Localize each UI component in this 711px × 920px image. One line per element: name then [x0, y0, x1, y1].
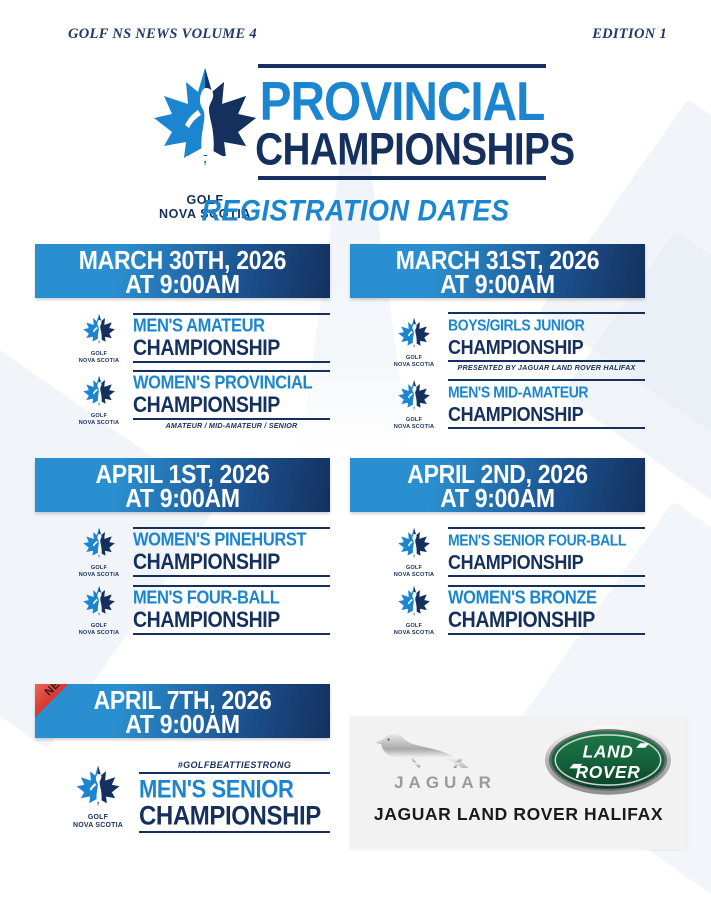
- land-rover-logo: LAND ROVER: [543, 724, 673, 796]
- date-block: MARCH 30TH, 2026 AT 9:00AM GOLF NOVA SCO…: [35, 244, 330, 436]
- event-name: WOMEN'S PINEHURST: [133, 531, 330, 550]
- event-championship-word: CHAMPIONSHIP: [139, 802, 330, 830]
- date-line-2: AT 9:00AM: [35, 483, 330, 512]
- event-rule-top: [448, 312, 645, 314]
- event-title-block: MEN'S MID-AMATEUR CHAMPIONSHIP: [448, 379, 645, 429]
- event-championship-word: CHAMPIONSHIP: [448, 609, 645, 631]
- event-logo-text-nova-scotia: NOVA SCOTIA: [73, 630, 125, 637]
- event-hashtag: #GOLFBEATTIESTRONG: [139, 760, 330, 770]
- date-line-2: AT 9:00AM: [350, 269, 645, 298]
- sponsor-panel: JAGUAR: [350, 716, 687, 849]
- event-rule-top: [139, 772, 330, 774]
- event-championship-word: CHAMPIONSHIP: [448, 403, 645, 425]
- event-rule-bottom: [448, 427, 645, 429]
- event-logo-text-golf: GOLF: [73, 351, 125, 358]
- event-list: GOLF NOVA SCOTIA MEN'S SENIOR FOUR-BALL …: [350, 512, 645, 636]
- date-bar: MARCH 30TH, 2026 AT 9:00AM: [35, 244, 330, 298]
- event-rule-bottom: [448, 633, 645, 635]
- title-line-provincial: PROVINCIAL: [252, 74, 552, 128]
- event-rule-top: [133, 313, 330, 315]
- svg-text:ROVER: ROVER: [576, 762, 641, 782]
- newsletter-page: GOLF NS NEWS VOLUME 4 EDITION 1 GOLF NOV…: [0, 0, 711, 920]
- sponsor-logos: JAGUAR: [350, 716, 687, 802]
- event-logo-text-nova-scotia: NOVA SCOTIA: [388, 362, 440, 369]
- maple-leaf-golfer-icon: [394, 378, 434, 412]
- event-rule-bottom: [448, 360, 645, 362]
- maple-leaf-golfer-icon: [394, 526, 434, 560]
- title-line-championships: CHAMPIONSHIPS: [255, 126, 549, 174]
- event-logo-text-golf: GOLF: [388, 355, 440, 362]
- jaguar-wordmark: JAGUAR: [370, 773, 520, 793]
- event-logo-text-nova-scotia: NOVA SCOTIA: [73, 358, 125, 365]
- event-logo-text-golf: GOLF: [73, 565, 125, 572]
- event-logo: GOLF NOVA SCOTIA: [73, 374, 125, 426]
- event-presented-by: PRESENTED BY JAGUAR LAND ROVER HALIFAX: [448, 363, 645, 372]
- event-logo-text-golf: GOLF: [388, 565, 440, 572]
- event-name: MEN'S SENIOR: [139, 776, 330, 802]
- event-lockup[interactable]: GOLF NOVA SCOTIA BOYS/GIRLS JUNIOR CHAMP…: [350, 312, 645, 372]
- event-rule-bottom: [133, 418, 330, 420]
- maple-leaf-golfer-icon: [79, 374, 119, 408]
- event-rule-top: [133, 527, 330, 529]
- event-rule-top: [133, 370, 330, 372]
- event-subtitle: AMATEUR / MID-AMATEUR / SENIOR: [133, 421, 330, 430]
- event-rule-top: [448, 379, 645, 381]
- event-title-block: WOMEN'S PINEHURST CHAMPIONSHIP: [133, 527, 330, 577]
- event-logo: GOLF NOVA SCOTIA: [65, 763, 131, 830]
- event-logo-text-nova-scotia: NOVA SCOTIA: [388, 572, 440, 579]
- event-championship-word: CHAMPIONSHIP: [133, 337, 330, 359]
- date-block: APRIL 1ST, 2026 AT 9:00AM GOLF NOVA SCOT…: [35, 458, 330, 642]
- maple-leaf-golfer-icon: [79, 312, 119, 346]
- event-lockup[interactable]: GOLF NOVA SCOTIA MEN'S FOUR-BALL CHAMPIO…: [35, 584, 330, 636]
- maple-leaf-golfer-icon: [71, 763, 125, 809]
- maple-leaf-golfer-icon: [394, 584, 434, 618]
- event-championship-word: CHAMPIONSHIP: [133, 551, 330, 573]
- event-list: GOLF NOVA SCOTIA #GOLFBEATTIESTRONG MEN'…: [35, 738, 330, 833]
- event-title-block: BOYS/GIRLS JUNIOR CHAMPIONSHIP PRESENTED…: [448, 312, 645, 372]
- maple-leaf-golfer-icon: [79, 584, 119, 618]
- event-championship-word: CHAMPIONSHIP: [448, 336, 645, 358]
- event-lockup[interactable]: GOLF NOVA SCOTIA MEN'S MID-AMATEUR CHAMP…: [350, 378, 645, 430]
- event-lockup[interactable]: GOLF NOVA SCOTIA WOMEN'S PINEHURST CHAMP…: [35, 526, 330, 578]
- event-name: MEN'S SENIOR FOUR-BALL: [448, 531, 645, 550]
- date-bar: APRIL 2ND, 2026 AT 9:00AM: [350, 458, 645, 512]
- event-rule-bottom: [139, 831, 330, 833]
- event-name: WOMEN'S PROVINCIAL: [133, 374, 330, 393]
- event-title-block: MEN'S FOUR-BALL CHAMPIONSHIP: [133, 585, 330, 635]
- event-lockup[interactable]: GOLF NOVA SCOTIA WOMEN'S PROVINCIAL CHAM…: [35, 370, 330, 430]
- event-name: MEN'S MID-AMATEUR: [448, 383, 645, 402]
- event-logo-text-nova-scotia: NOVA SCOTIA: [73, 420, 125, 427]
- newsletter-edition-label: EDITION 1: [592, 26, 667, 43]
- event-title-block: WOMEN'S BRONZE CHAMPIONSHIP: [448, 585, 645, 635]
- event-logo-text-nova-scotia: NOVA SCOTIA: [65, 822, 131, 830]
- maple-leaf-golfer-icon: [394, 316, 434, 350]
- event-logo-text-golf: GOLF: [73, 623, 125, 630]
- title-rule-bottom: [258, 176, 546, 180]
- svg-text:LAND: LAND: [583, 741, 634, 761]
- newsletter-volume-label: GOLF NS NEWS VOLUME 4: [68, 26, 257, 43]
- maple-leaf-golfer-icon: [79, 526, 119, 560]
- event-title-block: WOMEN'S PROVINCIAL CHAMPIONSHIP AMATEUR …: [133, 370, 330, 430]
- event-rule-bottom: [133, 633, 330, 635]
- event-list: GOLF NOVA SCOTIA WOMEN'S PINEHURST CHAMP…: [35, 512, 330, 636]
- event-title-block: MEN'S AMATEUR CHAMPIONSHIP: [133, 313, 330, 363]
- event-rule-bottom: [448, 575, 645, 577]
- event-logo: GOLF NOVA SCOTIA: [388, 378, 440, 430]
- registration-dates-subtitle: REGISTRATION DATES: [0, 195, 711, 228]
- date-bar: APRIL 1ST, 2026 AT 9:00AM: [35, 458, 330, 512]
- date-bar: NEW APRIL 7TH, 2026 AT 9:00AM: [35, 684, 330, 738]
- date-line-2: AT 9:00AM: [35, 709, 330, 738]
- masthead-title: PROVINCIAL CHAMPIONSHIPS: [258, 64, 546, 180]
- event-logo: GOLF NOVA SCOTIA: [73, 312, 125, 364]
- date-block: MARCH 31ST, 2026 AT 9:00AM GOLF NOVA SCO…: [350, 244, 645, 436]
- page-header: GOLF NS NEWS VOLUME 4 EDITION 1: [0, 26, 711, 48]
- event-title-block: #GOLFBEATTIESTRONG MEN'S SENIOR CHAMPION…: [139, 760, 330, 833]
- date-block: NEW APRIL 7TH, 2026 AT 9:00AM GOLF: [35, 684, 330, 839]
- land-rover-oval-icon: LAND ROVER: [543, 724, 673, 796]
- event-logo: GOLF NOVA SCOTIA: [388, 526, 440, 578]
- event-logo: GOLF NOVA SCOTIA: [388, 316, 440, 368]
- jaguar-leaper-icon: [370, 726, 510, 768]
- golf-nova-scotia-logo: GOLF NOVA SCOTIA: [150, 62, 260, 192]
- masthead: GOLF NOVA SCOTIA PROVINCIAL CHAMPIONSHIP…: [0, 62, 711, 197]
- event-logo-text-golf: GOLF: [65, 814, 131, 822]
- sponsor-dealer-name: JAGUAR LAND ROVER HALIFAX: [350, 804, 687, 825]
- event-list: GOLF NOVA SCOTIA MEN'S AMATEUR CHAMPIONS…: [35, 298, 330, 430]
- event-logo-text-golf: GOLF: [388, 417, 440, 424]
- event-championship-word: CHAMPIONSHIP: [133, 609, 330, 631]
- event-list: GOLF NOVA SCOTIA BOYS/GIRLS JUNIOR CHAMP…: [350, 298, 645, 430]
- date-line-2: AT 9:00AM: [350, 483, 645, 512]
- date-line-2: AT 9:00AM: [35, 269, 330, 298]
- event-championship-word: CHAMPIONSHIP: [133, 394, 330, 416]
- event-logo-text-golf: GOLF: [388, 623, 440, 630]
- event-lockup[interactable]: GOLF NOVA SCOTIA MEN'S SENIOR FOUR-BALL …: [350, 526, 645, 578]
- event-lockup[interactable]: GOLF NOVA SCOTIA WOMEN'S BRONZE CHAMPION…: [350, 584, 645, 636]
- date-block: APRIL 2ND, 2026 AT 9:00AM GOLF NOVA SCOT…: [350, 458, 645, 642]
- event-logo: GOLF NOVA SCOTIA: [73, 584, 125, 636]
- event-name: MEN'S AMATEUR: [133, 317, 330, 336]
- date-bar: MARCH 31ST, 2026 AT 9:00AM: [350, 244, 645, 298]
- event-rule-bottom: [133, 575, 330, 577]
- event-name: BOYS/GIRLS JUNIOR: [448, 316, 645, 335]
- event-logo-text-golf: GOLF: [73, 413, 125, 420]
- event-lockup[interactable]: GOLF NOVA SCOTIA #GOLFBEATTIESTRONG MEN'…: [35, 760, 330, 833]
- event-name: WOMEN'S BRONZE: [448, 589, 645, 608]
- event-logo: GOLF NOVA SCOTIA: [73, 526, 125, 578]
- event-logo-text-nova-scotia: NOVA SCOTIA: [388, 424, 440, 431]
- title-rule-top: [258, 64, 546, 68]
- jaguar-logo: JAGUAR: [370, 726, 520, 793]
- event-championship-word: CHAMPIONSHIP: [448, 551, 645, 573]
- event-logo-text-nova-scotia: NOVA SCOTIA: [73, 572, 125, 579]
- event-lockup[interactable]: GOLF NOVA SCOTIA MEN'S AMATEUR CHAMPIONS…: [35, 312, 330, 364]
- event-name: MEN'S FOUR-BALL: [133, 589, 330, 608]
- event-rule-bottom: [133, 361, 330, 363]
- event-logo: GOLF NOVA SCOTIA: [388, 584, 440, 636]
- maple-leaf-golfer-icon: [150, 62, 260, 194]
- event-title-block: MEN'S SENIOR FOUR-BALL CHAMPIONSHIP: [448, 527, 645, 577]
- event-logo-text-nova-scotia: NOVA SCOTIA: [388, 630, 440, 637]
- event-rule-top: [448, 527, 645, 529]
